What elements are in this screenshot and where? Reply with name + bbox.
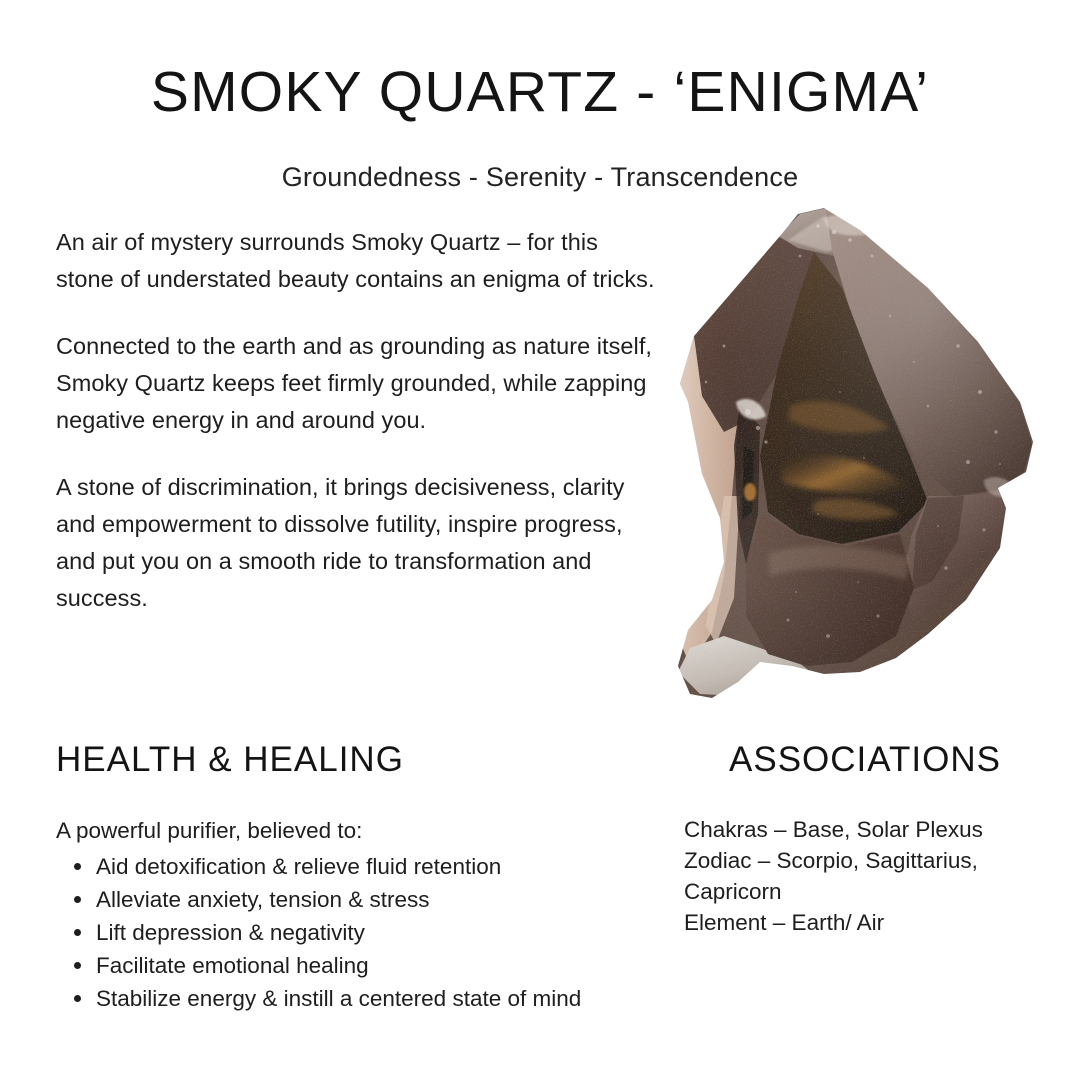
bullet-icon bbox=[74, 896, 81, 903]
list-item-label: Alleviate anxiety, tension & stress bbox=[96, 887, 430, 912]
list-item-label: Stabilize energy & instill a centered st… bbox=[96, 986, 581, 1011]
page-subtitle: Groundedness - Serenity - Transcendence bbox=[0, 162, 1080, 193]
association-line: Chakras – Base, Solar Plexus bbox=[684, 814, 1054, 845]
health-bullet-list: Aid detoxification & relieve fluid reten… bbox=[56, 850, 696, 1015]
health-and-healing-section: HEALTH & HEALING A powerful purifier, be… bbox=[56, 740, 696, 1015]
bullet-icon bbox=[74, 863, 81, 870]
list-item: Lift depression & negativity bbox=[56, 916, 696, 949]
list-item: Aid detoxification & relieve fluid reten… bbox=[56, 850, 696, 883]
crystal-image bbox=[628, 196, 1048, 706]
health-intro: A powerful purifier, believed to: bbox=[56, 816, 696, 846]
description-paragraph-2: Connected to the earth and as grounding … bbox=[56, 328, 656, 439]
associations-section: ASSOCIATIONS Chakras – Base, Solar Plexu… bbox=[684, 740, 1054, 938]
list-item-label: Facilitate emotional healing bbox=[96, 953, 369, 978]
association-line: Zodiac – Scorpio, Sagittarius, Capricorn bbox=[684, 845, 1054, 907]
bullet-icon bbox=[74, 929, 81, 936]
description-paragraph-3: A stone of discrimination, it brings dec… bbox=[56, 469, 656, 617]
bullet-icon bbox=[74, 962, 81, 969]
associations-list: Chakras – Base, Solar Plexus Zodiac – Sc… bbox=[684, 814, 1054, 938]
health-heading: HEALTH & HEALING bbox=[56, 740, 696, 780]
association-line: Element – Earth/ Air bbox=[684, 907, 1054, 938]
list-item: Alleviate anxiety, tension & stress bbox=[56, 883, 696, 916]
smoky-quartz-illustration bbox=[628, 196, 1048, 706]
list-item-label: Lift depression & negativity bbox=[96, 920, 365, 945]
list-item: Stabilize energy & instill a centered st… bbox=[56, 982, 696, 1015]
list-item: Facilitate emotional healing bbox=[56, 949, 696, 982]
bullet-icon bbox=[74, 995, 81, 1002]
associations-heading: ASSOCIATIONS bbox=[676, 740, 1054, 780]
crystal-info-card: SMOKY QUARTZ - ‘ENIGMA’ Groundedness - S… bbox=[0, 0, 1080, 1080]
description-column: An air of mystery surrounds Smoky Quartz… bbox=[56, 224, 656, 617]
list-item-label: Aid detoxification & relieve fluid reten… bbox=[96, 854, 501, 879]
description-paragraph-1: An air of mystery surrounds Smoky Quartz… bbox=[56, 224, 656, 298]
page-title: SMOKY QUARTZ - ‘ENIGMA’ bbox=[0, 62, 1080, 124]
